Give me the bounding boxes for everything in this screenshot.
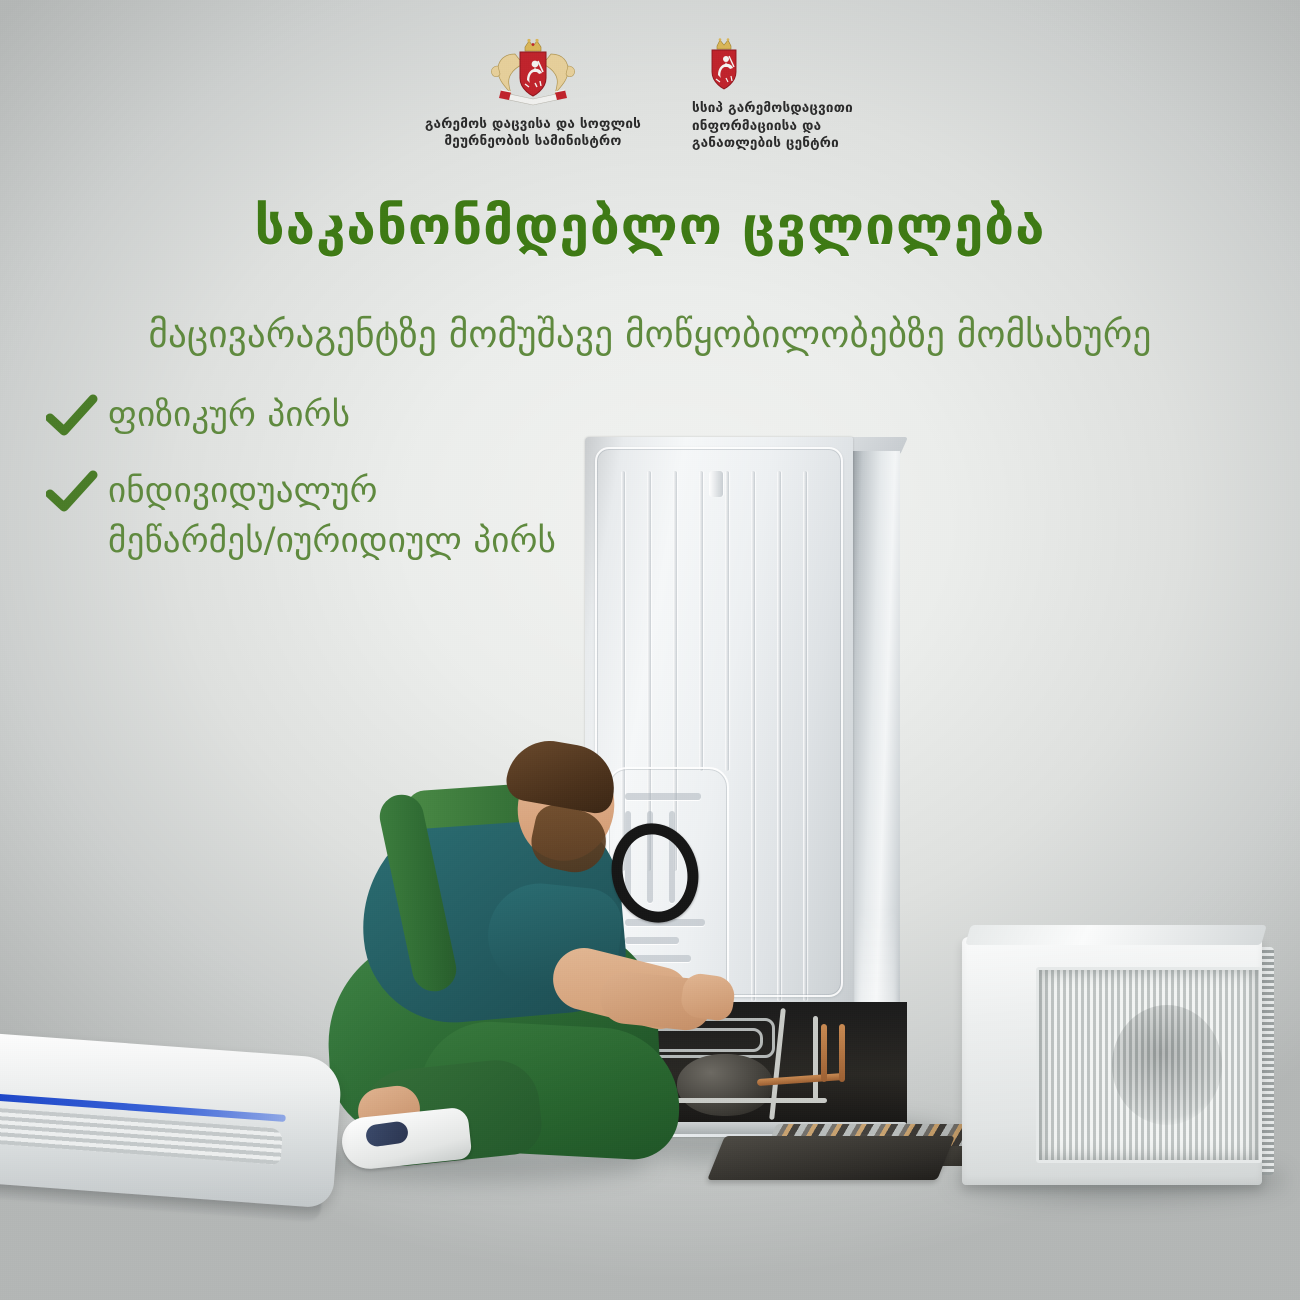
center-name-line3: განათლების ცენტრი [692,135,914,153]
ac-indoor-unit [0,1046,338,1266]
bullet-text-2-line2: მეწარმეს/იურიდიულ პირს [108,521,556,561]
center-logo-block: სსიპ გარემოსდაცვითი ინფორმაციისა და განა… [692,38,914,153]
ministry-logo-block: გარემოს დაცვისა და სოფლის მეურნეობის სამ… [404,38,662,150]
bullet-list: ფიზიკურ პირს ინდივიდუალურ მეწარმეს/იურიდ… [46,390,666,592]
page-title: საკანონმდებლო ცვლილება [0,196,1300,257]
bullet-text-2-line1: ინდივიდუალურ [108,471,378,511]
ministry-name: გარემოს დაცვისა და სოფლის მეურნეობის სამ… [404,116,662,150]
page-subtitle: მაცივარაგენტზე მომუშავე მოწყობილობებზე მ… [0,313,1300,356]
center-name-line1: სსიპ გარემოსდაცვითი [692,100,914,118]
check-icon [46,394,98,438]
poster-canvas: გარემოს დაცვისა და სოფლის მეურნეობის სამ… [0,0,1300,1300]
toolbox-tray-front [707,1136,955,1180]
ac-outdoor-top [965,925,1267,945]
bullet-text-1: ფიზიკურ პირს [108,390,350,440]
center-name: სსიპ გარემოსდაცვითი ინფორმაციისა და განა… [692,100,914,153]
photo-scene [0,0,1300,1300]
technician [300,735,720,1180]
ministry-name-line1: გარემოს დაცვისა და სოფლის [404,116,662,133]
list-item: ფიზიკურ პირს [46,390,666,440]
header-logos: გარემოს დაცვისა და სოფლის მეურნეობის სამ… [0,38,1300,168]
ac-outdoor-fan [1112,1005,1222,1125]
georgia-shield-crown-icon [692,38,914,94]
bullet-text-2: ინდივიდუალურ მეწარმეს/იურიდიულ პირს [108,466,556,566]
ministry-name-line2: მეურნეობის სამინისტრო [404,133,662,150]
center-name-line2: ინფორმაციისა და [692,118,914,136]
check-icon [46,470,98,514]
georgia-coat-of-arms-icon [404,38,662,110]
list-item: ინდივიდუალურ მეწარმეს/იურიდიულ პირს [46,466,666,566]
ac-outdoor-unit [962,925,1274,1193]
